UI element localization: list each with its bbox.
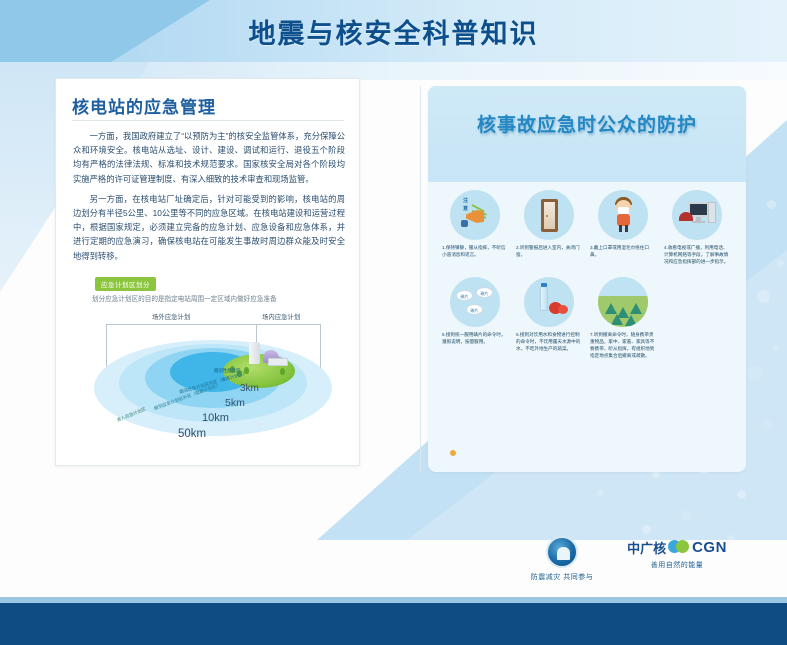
- footer-dark-bar: [0, 603, 787, 645]
- evacuation-tents-icon: [598, 277, 648, 327]
- bubble: [747, 365, 762, 380]
- protection-card-2: 2.听到警报后进入室内，关闭门窗。: [512, 190, 586, 265]
- door-icon: [524, 190, 574, 240]
- page-title: 地震与核安全科普知识: [0, 0, 787, 62]
- bubble: [762, 420, 772, 430]
- disaster-prevention-logo: 防震减灾 共同参与: [512, 536, 612, 582]
- poster-canvas: 地震与核安全科普知识 核电站的应急管理 一方面，我国政府建立了“以预防为主”的核…: [0, 0, 787, 645]
- tent-icon: [605, 303, 617, 314]
- right-logo-caption: 善用自然的能量: [612, 560, 742, 570]
- bubble: [642, 525, 651, 534]
- protection-card-3: 3.戴上口罩或用湿毛巾捂住口鼻。: [586, 190, 660, 265]
- bracket-inside-line: [256, 324, 320, 325]
- protection-card-1-text: 1.保持镇静，服从指挥，不听信小道消息和谣言。: [441, 245, 509, 259]
- tent-icon: [611, 314, 623, 325]
- protection-card-2-text: 2.听到警报后进入室内，关闭门窗。: [515, 245, 583, 259]
- bottle-cap: [541, 283, 547, 287]
- protection-card-7-text: 7.听到撤离命令时，随身携带贵重物品，家中、家畜、家具等不要携带，听从指挥，有组…: [589, 332, 657, 359]
- bubble: [767, 200, 776, 209]
- protection-card-empty: [660, 277, 734, 359]
- door-knob: [546, 215, 548, 217]
- child-leg: [619, 225, 622, 232]
- distance-3km: 3km: [240, 383, 259, 394]
- panel-title: 核事故应急时公众的防护: [428, 110, 746, 137]
- zone-badge: 应急计划区划分: [95, 277, 156, 291]
- masked-child-icon: [598, 190, 648, 240]
- cgn-logo: 中广核 CGN 善用自然的能量: [612, 536, 742, 570]
- tent-icon: [630, 303, 642, 314]
- house-shape: [557, 547, 570, 560]
- attention-char-2: 意: [463, 205, 468, 212]
- pc-tower: [708, 202, 716, 223]
- section-title-emergency-management: 核电站的应急管理: [72, 93, 216, 118]
- tree-icon: [280, 368, 285, 375]
- pill-label: 碘片: [466, 304, 483, 315]
- panel-accent-dot: [450, 450, 456, 456]
- plant-building-icon: [268, 358, 288, 366]
- panel-left-rule: [420, 86, 421, 472]
- iodine-pill-icon: 碘片 碘片 碘片: [450, 277, 500, 327]
- face-mask: [618, 207, 629, 214]
- protection-card-7: 7.听到撤离命令时，随身携带贵重物品，家中、家畜、家具等不要携带，听从指挥，有组…: [586, 277, 660, 359]
- campsite-field: [598, 277, 648, 327]
- protection-card-4: 4.收看电视或广播，利用电话、计算机网络等手段，了解事故情况和应急指挥部的进一步…: [660, 190, 734, 265]
- protection-card-4-text: 4.收看电视或广播，利用电话、计算机网络等手段，了解事故情况和应急指挥部的进一步…: [663, 245, 731, 265]
- tomato: [558, 305, 568, 314]
- label-outside-plan: 场外应急计划: [152, 312, 190, 321]
- cgn-chinese-name: 中广核: [627, 538, 666, 557]
- megaphone-cone: [466, 210, 484, 223]
- cgn-green-circle: [676, 540, 689, 553]
- protection-cards: 注 意 1.保持镇静，服从指挥，不听信小道消息和谣言。: [438, 190, 738, 360]
- zone-subtitle: 划分应急计划区的目的是指定电站周围一定区域内做好应急准备: [92, 293, 342, 303]
- pill-label: 碘片: [476, 287, 493, 298]
- emergency-zone-diagram: 场外应急计划 场内应急计划 烟羽性烟急区 烟羽应急计划区内区（撤离计划区） 烟羽…: [90, 310, 335, 460]
- paragraph-1: 一方面，我国政府建立了“以预防为主”的核安全监管体系，充分保障公众和环境安全。核…: [73, 129, 345, 186]
- emergency-management-body: 一方面，我国政府建立了“以预防为主”的核安全监管体系，充分保障公众和环境安全。核…: [73, 129, 345, 269]
- protection-card-5-text: 5.接到统一服用碘片的命令时，遵照说明，按量服用。: [441, 332, 509, 346]
- megaphone-stand: [461, 220, 468, 227]
- protection-card-row-1: 注 意 1.保持镇静，服从指挥，不听信小道消息和谣言。: [438, 190, 738, 265]
- distance-5km: 5km: [225, 397, 245, 409]
- bracket-outside-line: [106, 324, 256, 325]
- paragraph-2: 另一方面，在核电站厂址确定后，针对可能受到的影响，核电站的周边划分有半径5公里、…: [73, 192, 345, 263]
- protection-card-6-text: 6.接到对饮用水和食物进行控制的命令时，不饮用露天水源中的水，不吃外地生产的蔬菜…: [515, 332, 583, 352]
- cooling-tower-icon: [249, 342, 260, 364]
- protection-card-5: 碘片 碘片 碘片 5.接到统一服用碘片的命令时，遵照说明，按量服用。: [438, 277, 512, 359]
- child-leg: [625, 225, 628, 232]
- bubble: [772, 345, 778, 351]
- cgn-logo-row: 中广核 CGN: [612, 536, 742, 558]
- computer-tv-icon: [672, 190, 722, 240]
- title-divider: [72, 120, 344, 121]
- bubble: [757, 290, 770, 303]
- tent-icon: [625, 315, 637, 326]
- water-food-icon: [524, 277, 574, 327]
- bubble: [682, 510, 692, 520]
- protection-card-1: 注 意 1.保持镇静，服从指挥，不听信小道消息和谣言。: [438, 190, 512, 265]
- distance-50km: 50km: [178, 428, 206, 440]
- telephone-handset: [679, 212, 693, 221]
- bubble: [597, 490, 604, 497]
- protection-card-row-2: 碘片 碘片 碘片 5.接到统一服用碘片的命令时，遵照说明，按量服用。 6.接到对…: [438, 277, 738, 359]
- public-protection-panel: 核事故应急时公众的防护 注 意 1.保持镇静，服从指挥，不听信小道消息和谣言。: [428, 86, 746, 472]
- protection-card-6: 6.接到对饮用水和食物进行控制的命令时，不饮用露天水源中的水，不吃外地生产的蔬菜…: [512, 277, 586, 359]
- bubble: [737, 490, 746, 499]
- monitor-base: [692, 221, 705, 223]
- protection-card-3-text: 3.戴上口罩或用湿毛巾捂住口鼻。: [589, 245, 657, 259]
- megaphone-icon: 注 意: [450, 190, 500, 240]
- poster-header: 地震与核安全科普知识: [0, 0, 787, 62]
- water-bottle: [540, 286, 548, 311]
- cgn-english-name: CGN: [692, 539, 727, 556]
- attention-char-1: 注: [463, 197, 468, 204]
- cgn-mark-icon: [668, 539, 690, 555]
- distance-10km: 10km: [202, 412, 229, 424]
- label-inside-plan: 场内应急计划: [262, 312, 300, 321]
- bubble: [777, 260, 784, 267]
- pill-label: 碘片: [456, 290, 473, 301]
- seal-emblem-icon: [546, 536, 578, 568]
- left-logo-caption: 防震减灾 共同参与: [512, 572, 612, 582]
